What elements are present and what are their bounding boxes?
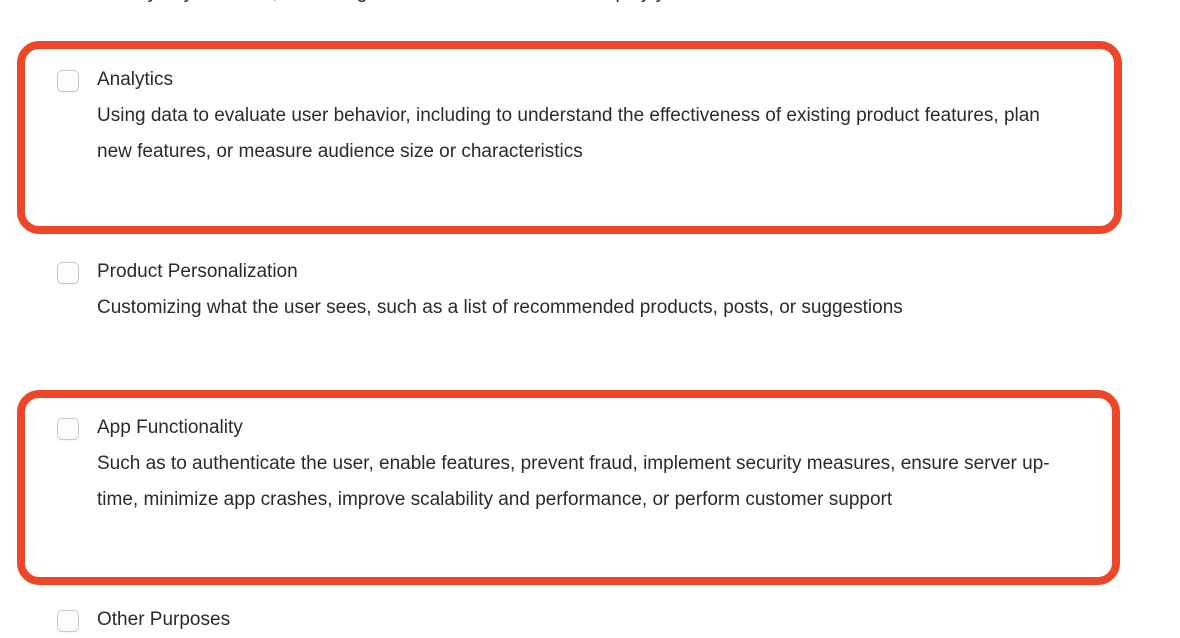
list-item-text: App Functionality Such as to authenticat… [97,410,1067,518]
list-item-title: Product Personalization [97,254,1097,290]
list-item-text: Analytics Using data to evaluate user be… [97,62,1057,170]
list-item-text: Product Personalization Customizing what… [97,254,1097,326]
list-item-text: Other Purposes [97,602,1057,638]
list-item-other-purposes[interactable]: Other Purposes [57,602,1057,638]
clipped-previous-description: directly to your users, or sharing data … [97,0,1107,11]
checkbox-app-functionality[interactable] [57,418,79,440]
list-item-description: Such as to authenticate the user, enable… [97,446,1067,518]
list-item-analytics[interactable]: Analytics Using data to evaluate user be… [57,62,1057,170]
checkbox-other-purposes[interactable] [57,610,79,632]
purposes-checklist-page: directly to your users, or sharing data … [0,0,1180,638]
list-item-description: Using data to evaluate user behavior, in… [97,98,1057,170]
checkbox-analytics[interactable] [57,70,79,92]
list-item-product-personalization[interactable]: Product Personalization Customizing what… [57,254,1097,326]
list-item-app-functionality[interactable]: App Functionality Such as to authenticat… [57,410,1067,518]
list-item-description: Customizing what the user sees, such as … [97,290,1097,326]
list-item-title: Analytics [97,62,1057,98]
list-item-title: App Functionality [97,410,1067,446]
list-item-title: Other Purposes [97,602,1057,638]
checkbox-product-personalization[interactable] [57,262,79,284]
